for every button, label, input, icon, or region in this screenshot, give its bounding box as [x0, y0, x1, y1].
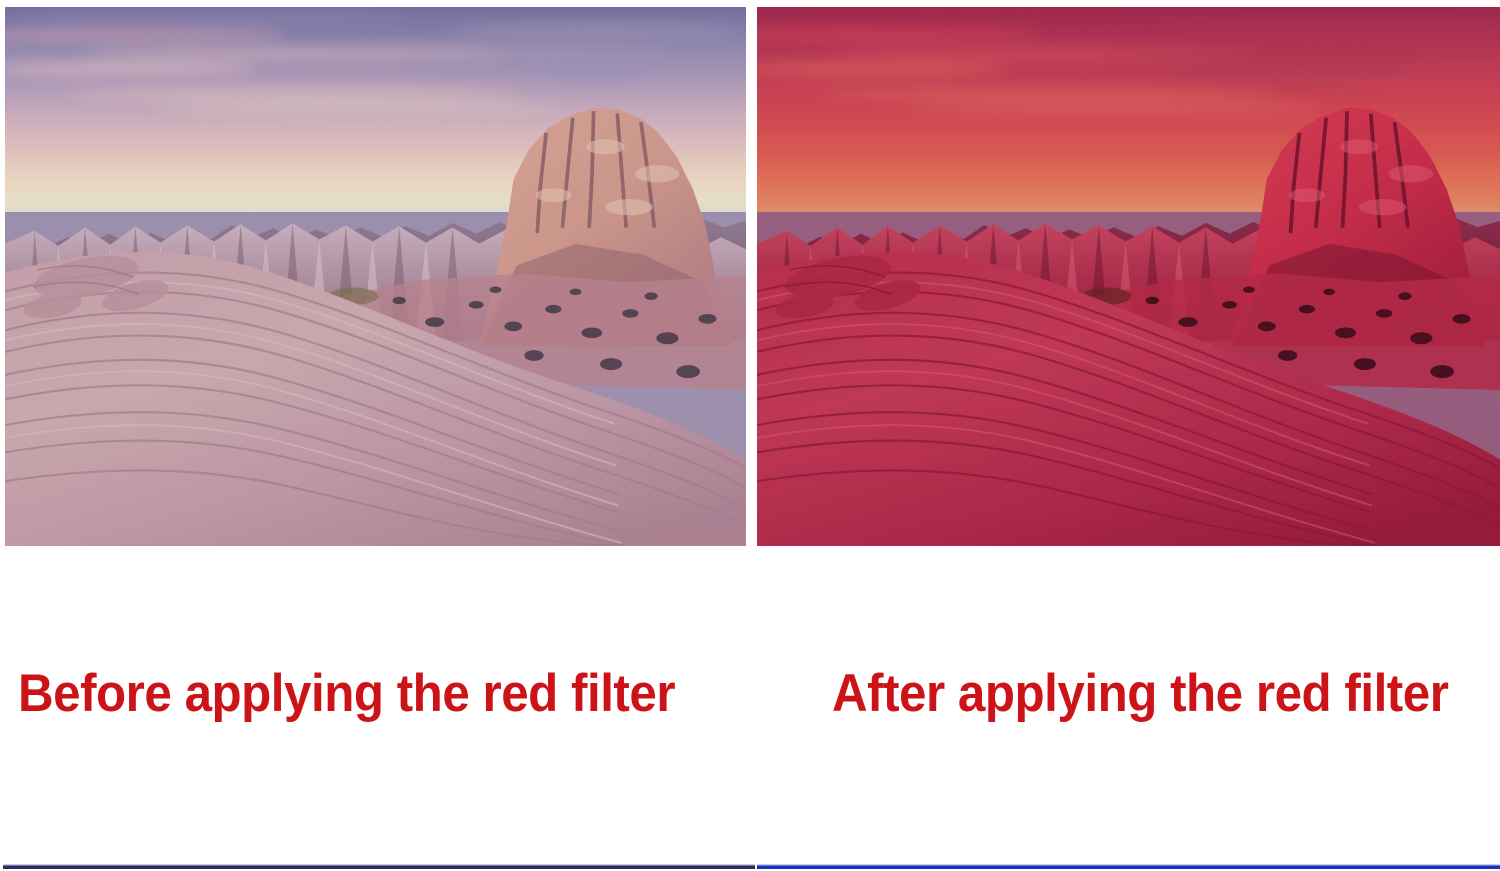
photo-panel-after — [757, 7, 1500, 546]
bottom-rule-right — [757, 864, 1500, 869]
landscape-scene-before — [5, 7, 746, 546]
caption-after: After applying the red filter — [832, 664, 1448, 724]
swirled-sandstone-foreground-filtered — [757, 244, 1500, 546]
comparison-page: Before applying the red filter After app… — [0, 0, 1500, 871]
photo-panel-before — [5, 7, 746, 546]
swirled-sandstone-foreground — [5, 244, 746, 546]
caption-before: Before applying the red filter — [18, 664, 675, 724]
landscape-scene-after — [757, 7, 1500, 546]
bottom-rule-left — [3, 864, 755, 869]
